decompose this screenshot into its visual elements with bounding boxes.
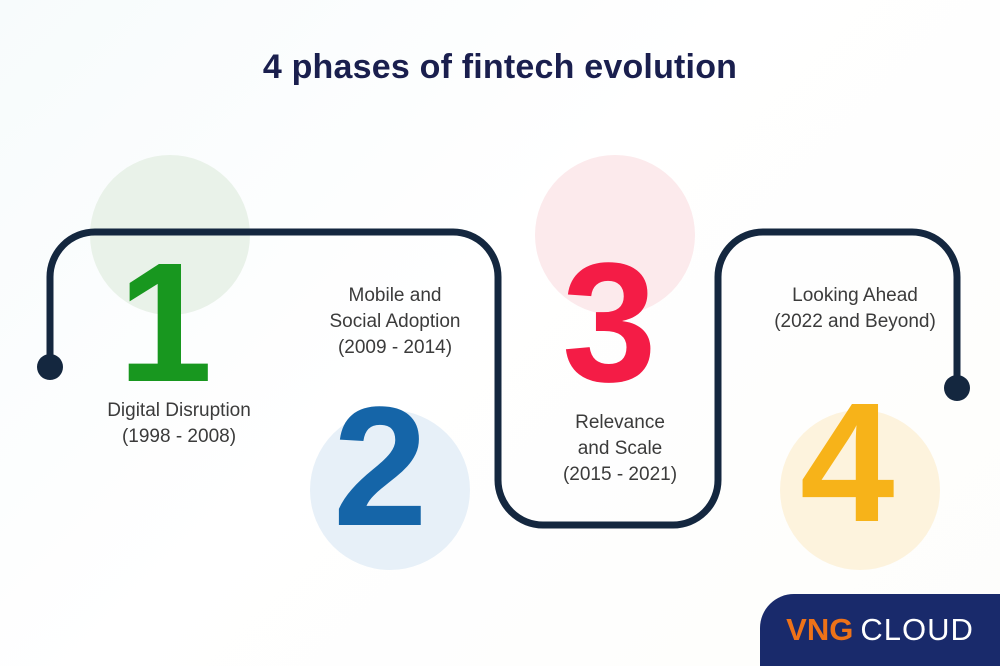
path-end-dot — [944, 375, 970, 401]
phase-2-numeral: 2 — [333, 382, 424, 552]
vng-cloud-logo: VNG CLOUD — [760, 594, 1000, 666]
phase-4-label: Looking Ahead (2022 and Beyond) — [740, 283, 970, 335]
phase-3-label: Relevance and Scale (2015 - 2021) — [515, 410, 725, 489]
phase-1-label: Digital Disruption (1998 - 2008) — [54, 398, 304, 450]
phase-3-numeral: 3 — [562, 238, 653, 408]
path-start-dot — [37, 354, 63, 380]
phase-4-numeral: 4 — [800, 378, 891, 548]
logo-vng-text: VNG — [786, 612, 853, 648]
phase-2-label: Mobile and Social Adoption (2009 - 2014) — [285, 283, 505, 362]
infographic-canvas: 4 phases of fintech evolution 1 2 3 4 Di… — [0, 0, 1000, 666]
logo-cloud-text: CLOUD — [860, 612, 974, 648]
phase-1-numeral: 1 — [118, 238, 209, 408]
